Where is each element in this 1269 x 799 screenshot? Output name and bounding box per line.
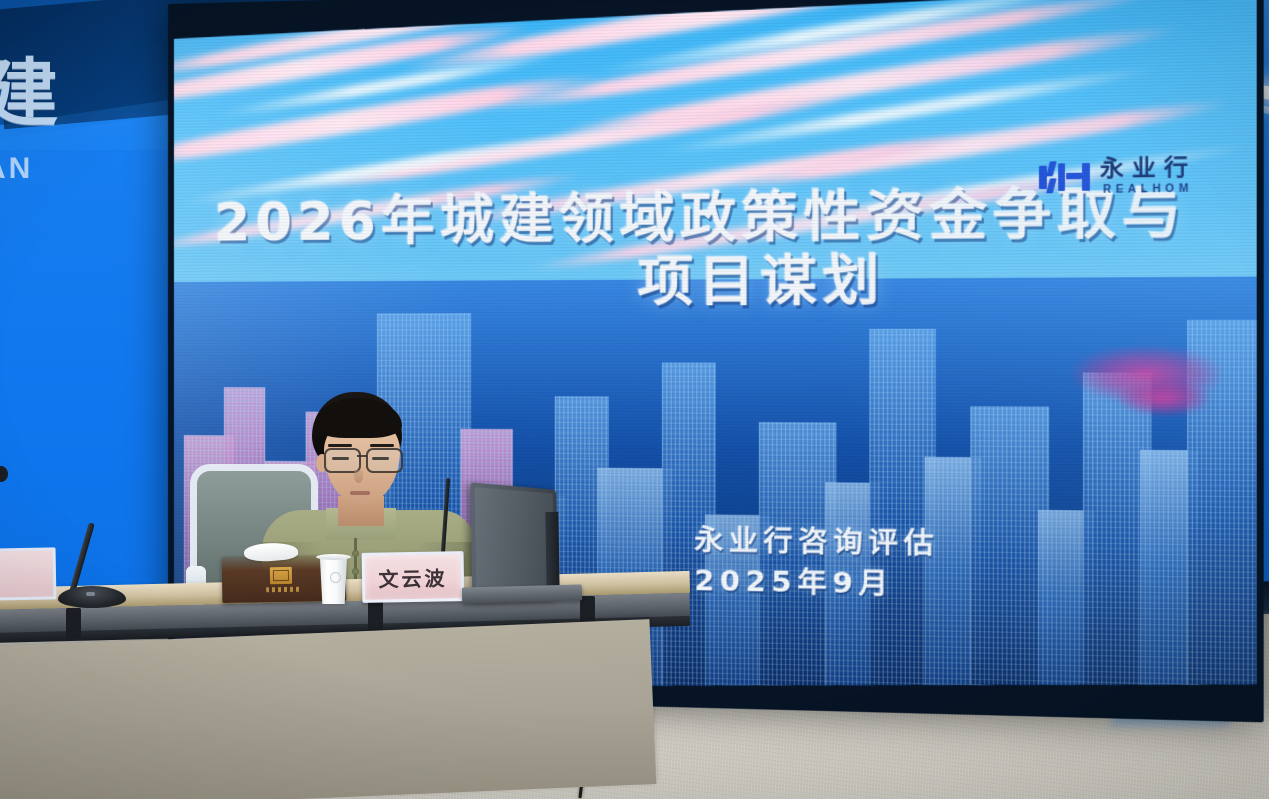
laptop-keyboard-base[interactable] [462, 584, 582, 603]
conference-desk-front-panel [0, 619, 656, 799]
slide-brand-latin: REALHOM [1103, 184, 1193, 197]
paper-cup-rim [316, 554, 351, 560]
laptop-hinge [545, 512, 559, 596]
glasses-icon [322, 448, 406, 470]
slide-title-line-2: 项目谋划 [214, 248, 1222, 317]
tissue-box-brand-text [266, 587, 300, 593]
slide-subtitle: 永业行咨询评估 2025年9月 [694, 521, 1257, 614]
wall-logo-latin: AN [0, 152, 33, 186]
speaker-nameplate: 文云波 [362, 551, 465, 603]
slide-brand-logo: 永业行 REALHOM [1039, 157, 1197, 197]
tissue-box-emblem-icon [270, 567, 292, 584]
yh-mark-icon [1039, 161, 1091, 194]
desk-leg [66, 608, 81, 638]
paper-cup-logo-icon [330, 572, 341, 583]
desk-leg [368, 601, 383, 631]
wall-logo-left: 建 AN [0, 48, 70, 198]
slide-brand-text: 永业行 REALHOM [1100, 157, 1196, 197]
person-mouth [350, 491, 370, 495]
person-nose [354, 470, 363, 483]
slide-title: 2026年城建领域政策性资金争取与 项目谋划 [214, 182, 1222, 317]
wall-logo-glyph: 建 [0, 48, 54, 140]
speaker-nameplate-text: 文云波 [378, 562, 447, 592]
slide-brand-chinese: 永业行 [1100, 157, 1196, 181]
nameplate-left [0, 547, 56, 600]
microphone-indicator-icon [86, 592, 95, 596]
microphone-base[interactable] [58, 586, 126, 608]
photo-scene: 建 AN 建 [0, 0, 1269, 799]
